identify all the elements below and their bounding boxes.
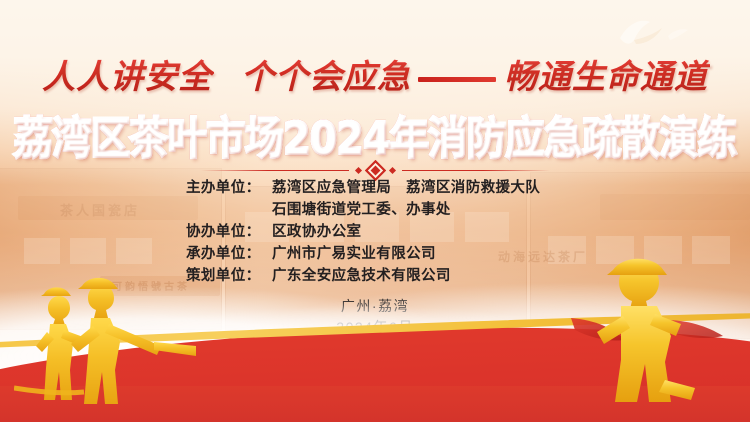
organizer-value: 石围塘街道党工委、办事处 [272, 200, 564, 220]
firefighter-rescuing-person-silhouette [557, 254, 732, 404]
page-title: 荔湾区茶叶市场2024年消防应急疏散演练 [0, 104, 750, 167]
page-title-text: 荔湾区茶叶市场2024年消防应急疏散演练 [14, 114, 737, 164]
divider-diamond-small-right [388, 167, 395, 174]
organizer-value: 荔湾区应急管理局 荔湾区消防救援大队 [272, 178, 564, 198]
organizer-label: 主办单位： [186, 178, 272, 198]
headline-part-3: 畅通生命通道 [502, 57, 710, 96]
headline-dash-icon [418, 77, 496, 82]
headline-part-1: 人人讲安全 [40, 57, 214, 96]
fire-drill-poster: 茶人国瓷店 可韵悟號古茶 动海远达茶厂 人人讲安全 个个会应急 畅通生命通道 荔… [0, 0, 750, 422]
headline-part-2: 个个会应急 [239, 57, 413, 96]
divider-line-right [402, 170, 550, 172]
ornament-divider [0, 163, 750, 178]
headline: 人人讲安全 个个会应急 畅通生命通道 [0, 50, 750, 98]
divider-line-left [201, 170, 349, 172]
organizer-row: 石围塘街道党工委、办事处 [186, 200, 564, 220]
firefighters-with-hose-silhouette [14, 272, 199, 404]
divider-diamond-small-left [354, 167, 361, 174]
organizer-row: 主办单位： 荔湾区应急管理局 荔湾区消防救援大队 [186, 178, 564, 198]
